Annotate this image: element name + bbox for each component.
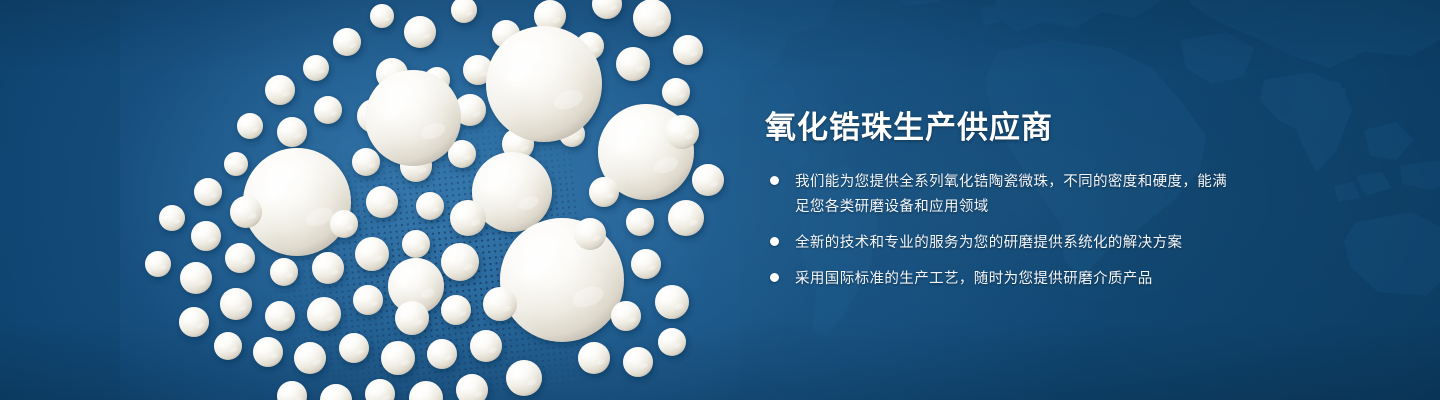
- banner-headline: 氧化锆珠生产供应商: [765, 108, 1235, 148]
- hero-banner: 氧化锆珠生产供应商 我们能为您提供全系列氧化锆陶瓷微珠，不同的密度和硬度，能满足…: [0, 0, 1440, 400]
- bullet-item: 我们能为您提供全系列氧化锆陶瓷微珠，不同的密度和硬度，能满足您各类研磨设备和应用…: [765, 170, 1235, 220]
- banner-bullet-list: 我们能为您提供全系列氧化锆陶瓷微珠，不同的密度和硬度，能满足您各类研磨设备和应用…: [765, 170, 1235, 292]
- bullet-text: 全新的技术和专业的服务为您的研磨提供系统化的解决方案: [795, 231, 1182, 256]
- bullet-dot-icon: [770, 273, 779, 282]
- photo-glow: [120, 0, 740, 400]
- bullet-item: 全新的技术和专业的服务为您的研磨提供系统化的解决方案: [765, 231, 1235, 256]
- zirconia-beads-photo: [120, 0, 740, 400]
- bullet-text: 采用国际标准的生产工艺，随时为您提供研磨介质产品: [795, 267, 1153, 292]
- bullet-dot-icon: [770, 237, 779, 246]
- halftone-texture: [135, 84, 594, 400]
- bullet-text: 我们能为您提供全系列氧化锆陶瓷微珠，不同的密度和硬度，能满足您各类研磨设备和应用…: [795, 170, 1235, 220]
- bullet-item: 采用国际标准的生产工艺，随时为您提供研磨介质产品: [765, 267, 1235, 292]
- bullet-dot-icon: [770, 176, 779, 185]
- banner-copy: 氧化锆珠生产供应商 我们能为您提供全系列氧化锆陶瓷微珠，不同的密度和硬度，能满足…: [765, 108, 1235, 292]
